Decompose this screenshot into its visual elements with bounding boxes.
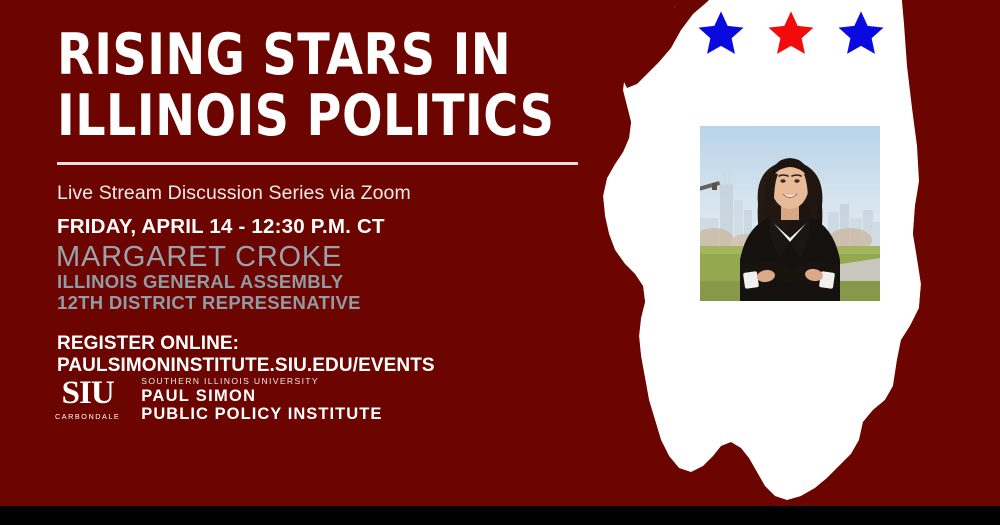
bottom-black-bar [0,506,1000,525]
star-center-icon [766,8,816,58]
logo-university-line: SOUTHERN ILLINOIS UNIVERSITY [141,376,382,386]
speaker-org-line-1: ILLINOIS GENERAL ASSEMBLY [57,271,343,292]
page-title: RISING STARS IN ILLINOIS POLITICS [57,25,559,147]
headline-line-1: RISING STARS IN [57,22,511,88]
registration-link[interactable]: REGISTER ONLINE: PAULSIMONINSTITUTE.SIU.… [57,333,617,377]
event-flyer: RISING STARS IN ILLINOIS POLITICS Live S… [0,0,1000,525]
siu-logo-mark: SIU CARBONDALE [55,377,132,421]
event-datetime: FRIDAY, APRIL 14 - 12:30 P.M. CT [57,215,385,239]
siu-wordmark: SIU [62,377,114,410]
star-left-icon [696,8,746,58]
flyer-text-column: RISING STARS IN ILLINOIS POLITICS Live S… [57,0,617,525]
headline-line-2: ILLINOIS POLITICS [57,86,559,147]
speaker-portrait-photo [700,126,880,301]
star-right-icon [836,8,886,58]
siu-campus-label: CARBONDALE [55,412,120,421]
logo-paul-simon-line: PAUL SIMON [141,387,382,405]
logo-institute-line: PUBLIC POLICY INSTITUTE [141,405,382,423]
speaker-org-line-2: 12TH DISTRICT REPRESENATIVE [57,292,361,313]
star-row [696,8,886,62]
siu-paul-simon-institute-logo: SIU CARBONDALE SOUTHERN ILLINOIS UNIVERS… [55,374,382,424]
speaker-name: MARGARET CROKE [56,241,342,274]
title-divider-rule [57,162,578,165]
institute-lockup-text: SOUTHERN ILLINOIS UNIVERSITY PAUL SIMON … [133,376,382,423]
series-tagline: Live Stream Discussion Series via Zoom [57,182,411,205]
speaker-affiliation: ILLINOIS GENERAL ASSEMBLY 12TH DISTRICT … [57,271,361,313]
